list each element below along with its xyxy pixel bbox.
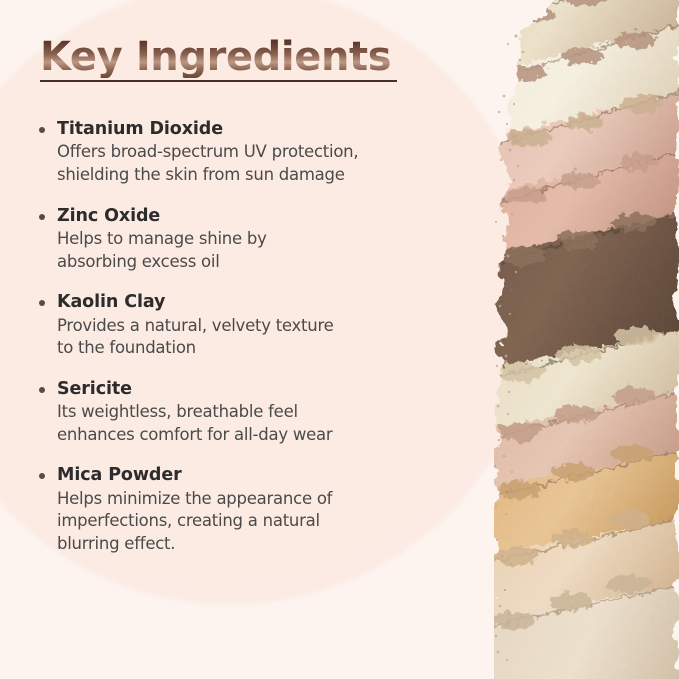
ingredients-list: Titanium Dioxide Offers broad-spectrum U… [38, 118, 448, 555]
bullet-icon [39, 300, 45, 306]
ingredients-panel: Key Ingredients Titanium Dioxide Offers … [0, 0, 470, 679]
bullet-icon [39, 214, 45, 220]
ingredient-name: Titanium Dioxide [57, 118, 448, 140]
list-item: Kaolin Clay Provides a natural, velvety … [38, 291, 448, 360]
bullet-icon [39, 387, 45, 393]
ingredient-name: Zinc Oxide [57, 205, 448, 227]
title-underline [40, 80, 397, 82]
list-item: Sericite Its weightless, breathable feel… [38, 378, 448, 447]
ingredient-description: Offers broad-spectrum UV protection, shi… [57, 141, 448, 186]
bullet-icon [39, 473, 45, 479]
page-title: Key Ingredients [40, 36, 440, 78]
ingredient-name: Sericite [57, 378, 448, 400]
bullet-icon [39, 127, 45, 133]
list-item: Mica Powder Helps minimize the appearanc… [38, 464, 448, 555]
list-item: Titanium Dioxide Offers broad-spectrum U… [38, 118, 448, 187]
ingredient-description: Its weightless, breathable feel enhances… [57, 401, 448, 446]
page-title-block: Key Ingredients [40, 36, 440, 82]
ingredient-description: Provides a natural, velvety texture to t… [57, 315, 448, 360]
ingredient-name: Mica Powder [57, 464, 448, 486]
poster-canvas: Key Ingredients Titanium Dioxide Offers … [0, 0, 679, 679]
ingredient-description: Helps to manage shine by absorbing exces… [57, 228, 448, 273]
list-item: Zinc Oxide Helps to manage shine by abso… [38, 205, 448, 274]
ingredient-description: Helps minimize the appearance of imperfe… [57, 488, 448, 556]
powder-swatch-photo [494, 0, 679, 679]
ingredient-name: Kaolin Clay [57, 291, 448, 313]
